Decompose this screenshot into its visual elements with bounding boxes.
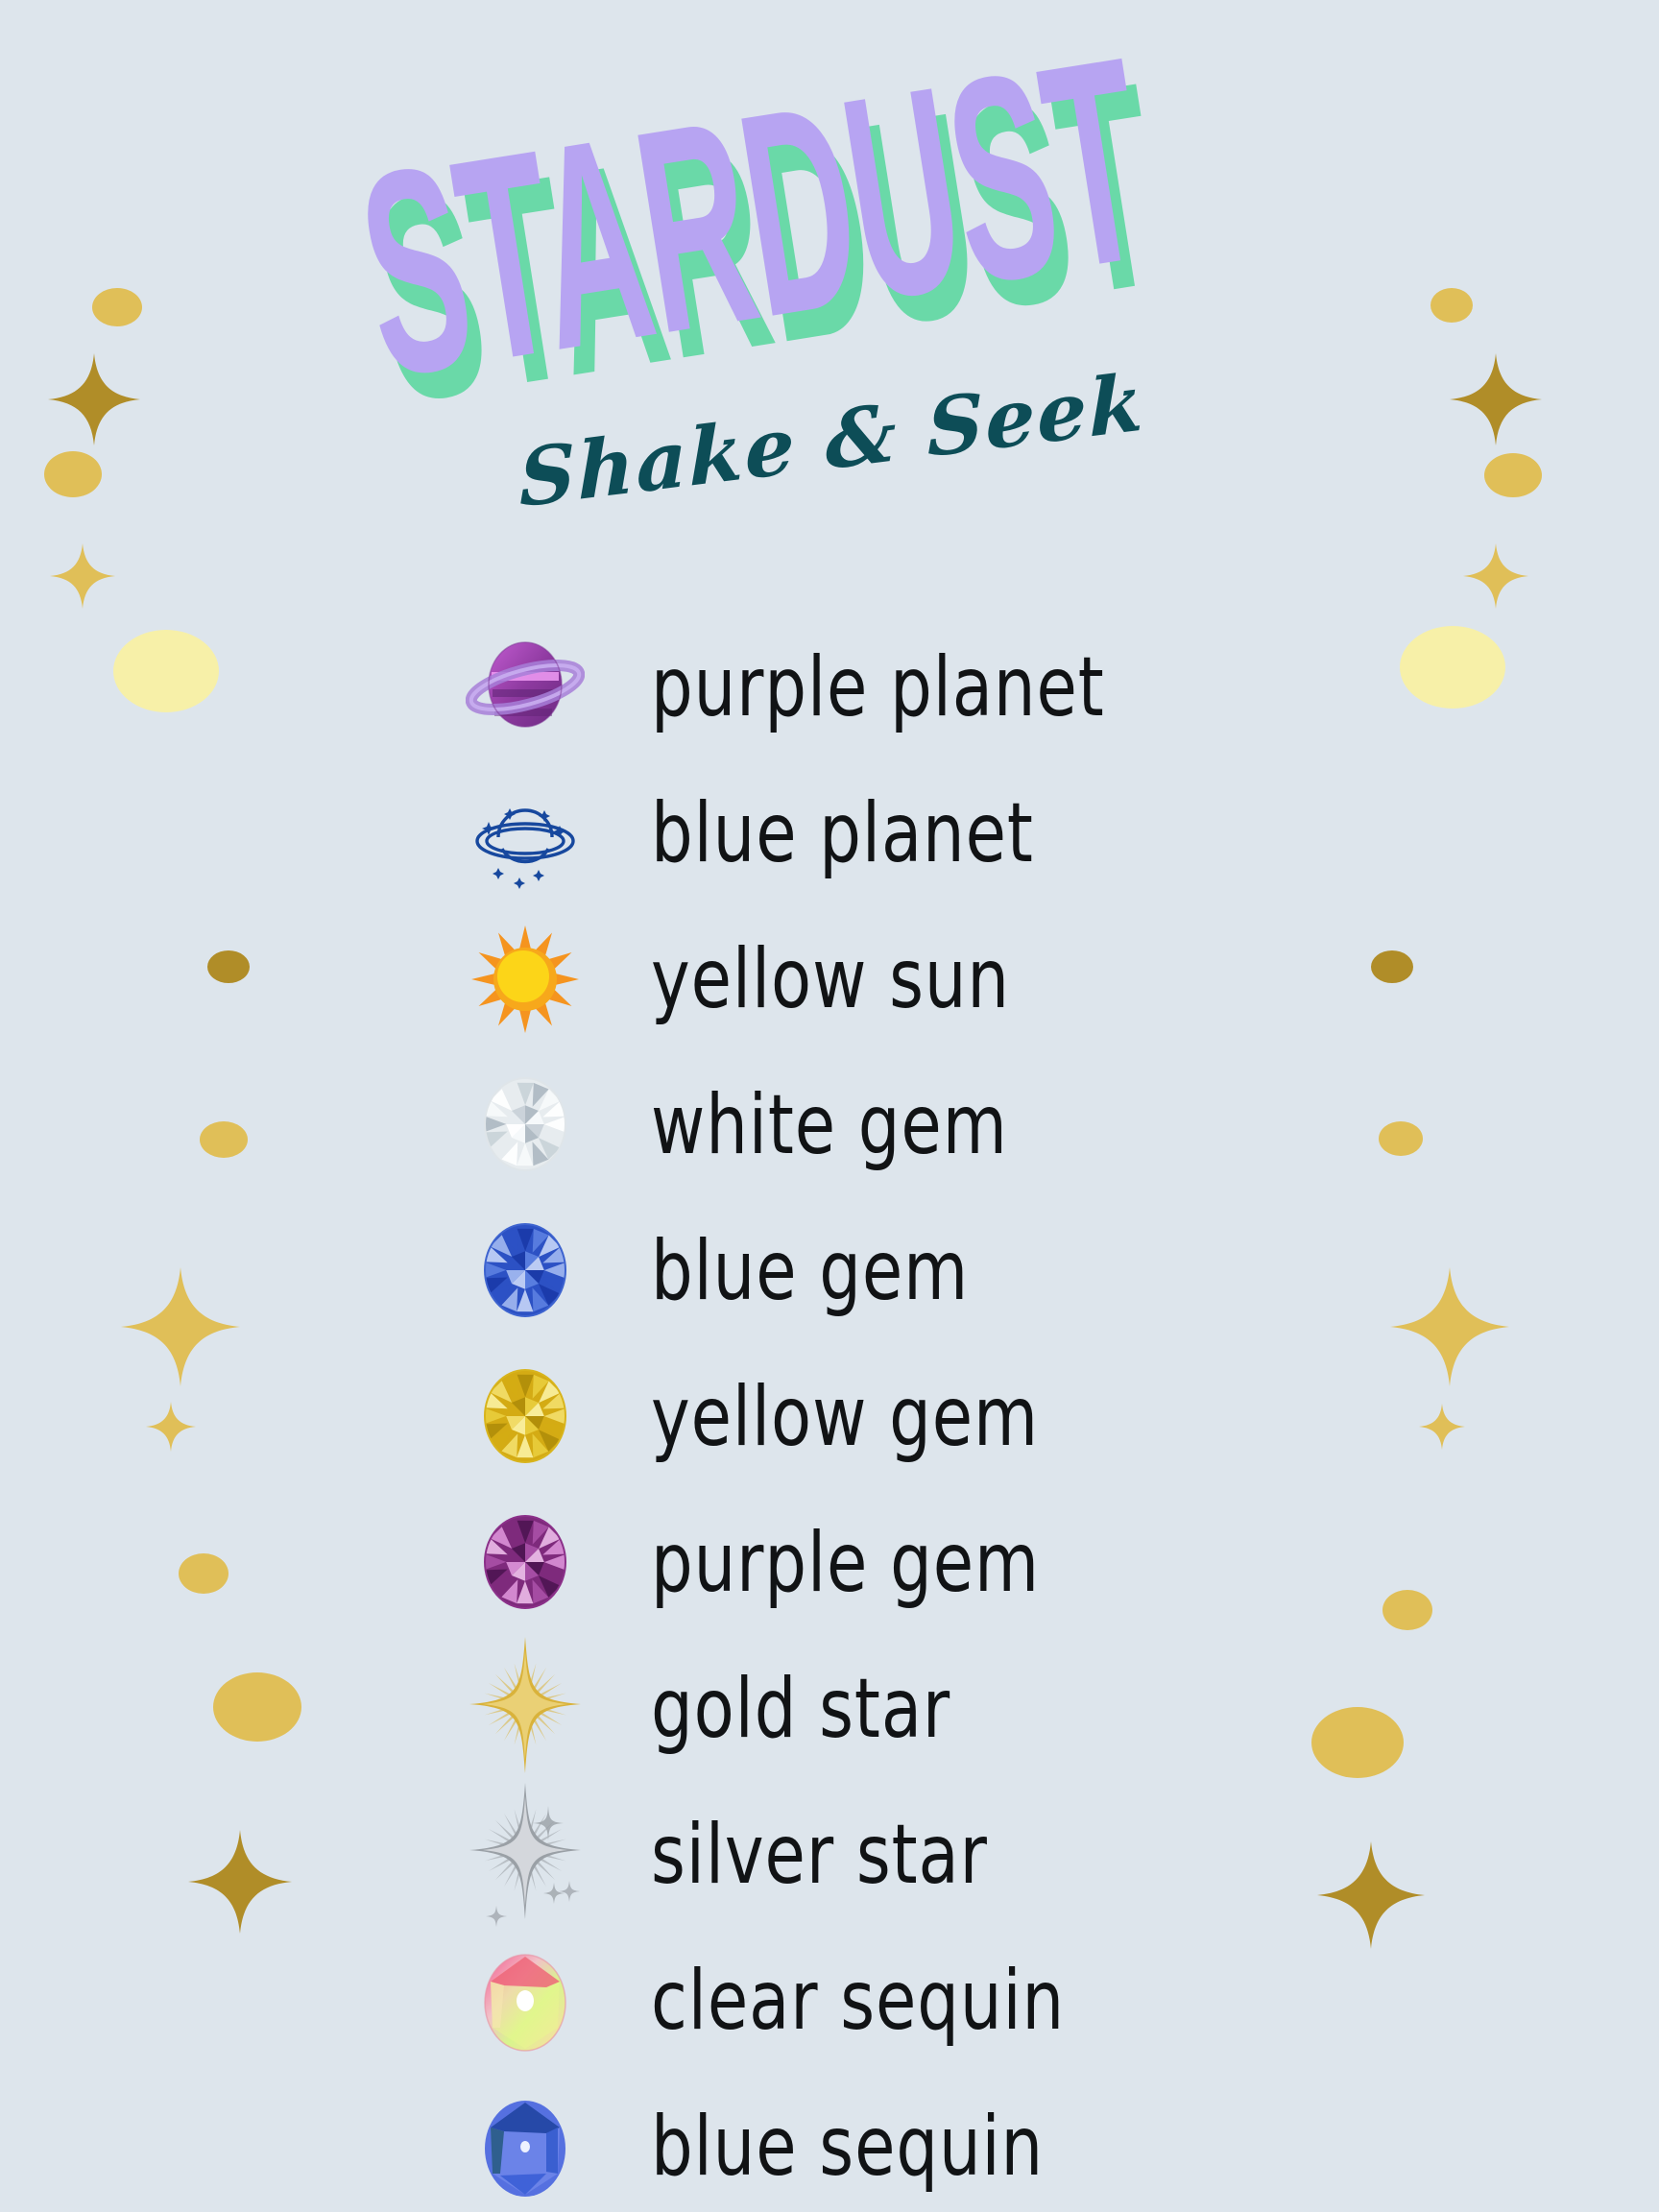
yellow-sun-icon <box>444 906 607 1052</box>
list-item-label: purple gem <box>651 1519 1040 1608</box>
clear-sequin-icon <box>444 1928 607 2074</box>
list-item[interactable]: yellow gem <box>0 1344 1659 1490</box>
list-item-label: white gem <box>651 1081 1008 1170</box>
list-item-label: gold star <box>651 1665 950 1754</box>
list-item-label: blue gem <box>651 1227 969 1316</box>
poster-canvas: STARDUST Shake & Seek purple planetblue … <box>0 0 1659 2212</box>
list-item-label: blue planet <box>651 789 1034 878</box>
blue-planet-icon <box>444 760 607 906</box>
purple-gem-icon <box>444 1490 607 1636</box>
blue-sequin-icon <box>444 2074 607 2212</box>
white-gem-icon <box>444 1052 607 1198</box>
page-title: STARDUST <box>346 48 954 423</box>
yellow-gem-icon <box>444 1344 607 1490</box>
list-item-label: silver star <box>651 1811 988 1900</box>
gold-star-icon <box>444 1636 607 1782</box>
list-item-label: yellow sun <box>651 935 1010 1024</box>
list-item[interactable]: yellow sun <box>0 906 1659 1052</box>
poster-header: STARDUST Shake & Seek <box>0 0 1659 614</box>
list-item-label: purple planet <box>651 643 1105 733</box>
list-item[interactable]: gold star <box>0 1636 1659 1782</box>
list-item[interactable]: clear sequin <box>0 1928 1659 2074</box>
list-item-label: yellow gem <box>651 1373 1039 1462</box>
blue-gem-icon <box>444 1198 607 1344</box>
scavenger-item-list: purple planetblue planetyellow sunwhite … <box>0 614 1659 2212</box>
list-item-label: clear sequin <box>651 1957 1065 2046</box>
list-item[interactable]: silver star <box>0 1782 1659 1928</box>
list-item[interactable]: blue gem <box>0 1198 1659 1344</box>
list-item[interactable]: purple gem <box>0 1490 1659 1636</box>
list-item[interactable]: white gem <box>0 1052 1659 1198</box>
list-item[interactable]: purple planet <box>0 614 1659 760</box>
list-item[interactable]: blue sequin <box>0 2074 1659 2212</box>
silver-star-icon <box>444 1782 607 1928</box>
purple-planet-icon <box>444 614 607 760</box>
list-item-label: blue sequin <box>651 2103 1044 2192</box>
list-item[interactable]: blue planet <box>0 760 1659 906</box>
